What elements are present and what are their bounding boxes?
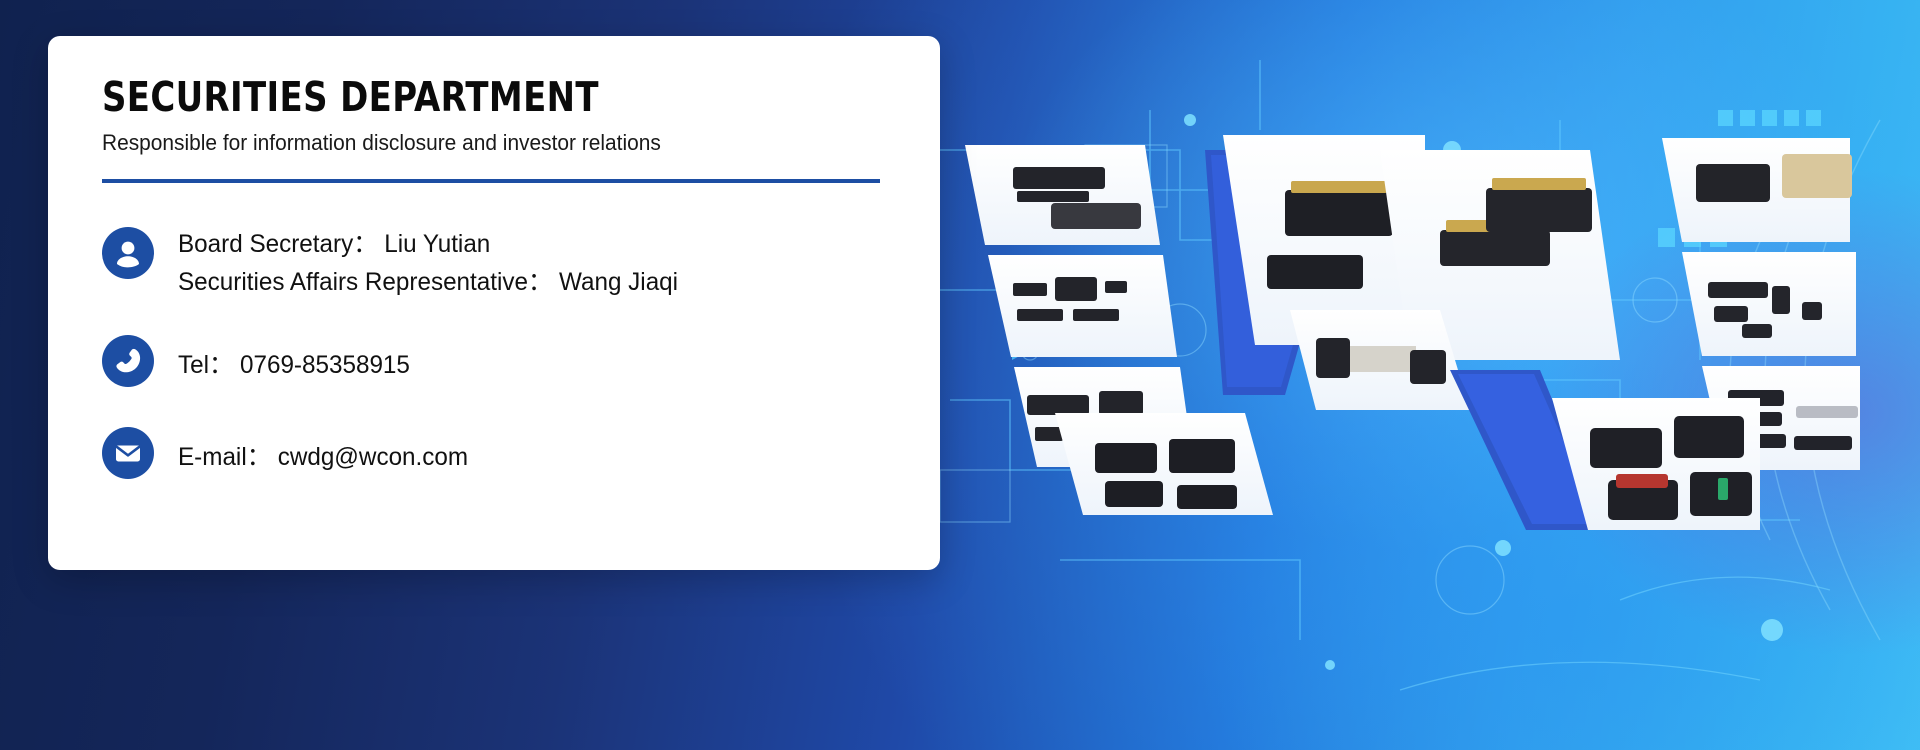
board-secretary-line: Board Secretary： Liu Yutian <box>178 225 678 263</box>
banner-root: SECURITIES DEPARTMENT Responsible for in… <box>0 0 1920 750</box>
personnel-text: Board Secretary： Liu Yutian Securities A… <box>178 223 678 301</box>
securities-rep-line: Securities Affairs Representative： Wang … <box>178 263 678 301</box>
contact-list: Board Secretary： Liu Yutian Securities A… <box>102 223 940 479</box>
contact-row-tel[interactable]: Tel： 0769-85358915 <box>102 335 940 387</box>
person-icon <box>102 227 154 279</box>
securities-department-card: SECURITIES DEPARTMENT Responsible for in… <box>48 36 940 570</box>
phone-icon <box>102 335 154 387</box>
email-text: E-mail： cwdg@wcon.com <box>178 427 468 476</box>
page-subtitle: Responsible for information disclosure a… <box>102 130 898 156</box>
contact-row-personnel: Board Secretary： Liu Yutian Securities A… <box>102 223 940 301</box>
tel-text: Tel： 0769-85358915 <box>178 335 410 384</box>
page-title: SECURITIES DEPARTMENT <box>102 74 873 121</box>
envelope-icon <box>102 427 154 479</box>
title-divider <box>102 179 880 183</box>
logo-w-right-half <box>1290 110 1920 530</box>
contact-row-email[interactable]: E-mail： cwdg@wcon.com <box>102 427 940 479</box>
